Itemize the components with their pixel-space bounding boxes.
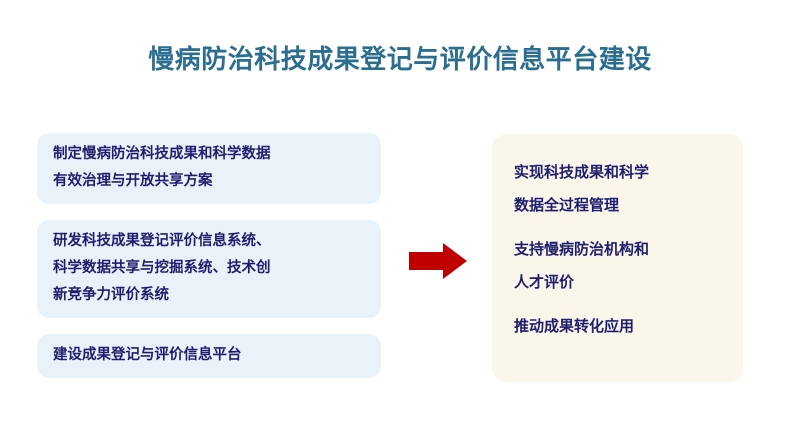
outcome-evaluation-line-1: 支持慢病防治机构和 [514, 233, 725, 266]
outcome-evaluation-line-2: 人才评价 [514, 266, 725, 299]
input-box-systems-line-3: 新竞争力评价系统 [53, 282, 367, 309]
outcome-management-line-1: 实现科技成果和科学 [514, 156, 725, 189]
outcome-transformation: 推动成果转化应用 [514, 310, 725, 343]
input-box-plan-line-2: 有效治理与开放共享方案 [53, 168, 367, 195]
page-title: 慢病防治科技成果登记与评价信息平台建设 [0, 44, 800, 75]
arrow-right-icon [409, 243, 467, 279]
outcome-transformation-line-1: 推动成果转化应用 [514, 310, 725, 343]
outcome-management-line-2: 数据全过程管理 [514, 189, 725, 222]
input-box-systems: 研发科技成果登记评价信息系统、 科学数据共享与挖掘系统、技术创 新竞争力评价系统 [37, 220, 381, 318]
input-box-systems-line-1: 研发科技成果登记评价信息系统、 [53, 228, 367, 255]
input-box-platform: 建设成果登记与评价信息平台 [37, 334, 381, 378]
left-column-group: 制定慢病防治科技成果和科学数据 有效治理与开放共享方案 研发科技成果登记评价信息… [37, 133, 381, 394]
input-box-plan: 制定慢病防治科技成果和科学数据 有效治理与开放共享方案 [37, 133, 381, 204]
slide-canvas: 慢病防治科技成果登记与评价信息平台建设 制定慢病防治科技成果和科学数据 有效治理… [0, 0, 800, 448]
outcomes-panel: 实现科技成果和科学 数据全过程管理 支持慢病防治机构和 人才评价 推动成果转化应… [492, 134, 743, 382]
input-box-platform-line-1: 建设成果登记与评价信息平台 [53, 342, 367, 369]
outcome-evaluation: 支持慢病防治机构和 人才评价 [514, 233, 725, 299]
outcome-management: 实现科技成果和科学 数据全过程管理 [514, 156, 725, 222]
input-box-systems-line-2: 科学数据共享与挖掘系统、技术创 [53, 255, 367, 282]
input-box-plan-line-1: 制定慢病防治科技成果和科学数据 [53, 141, 367, 168]
